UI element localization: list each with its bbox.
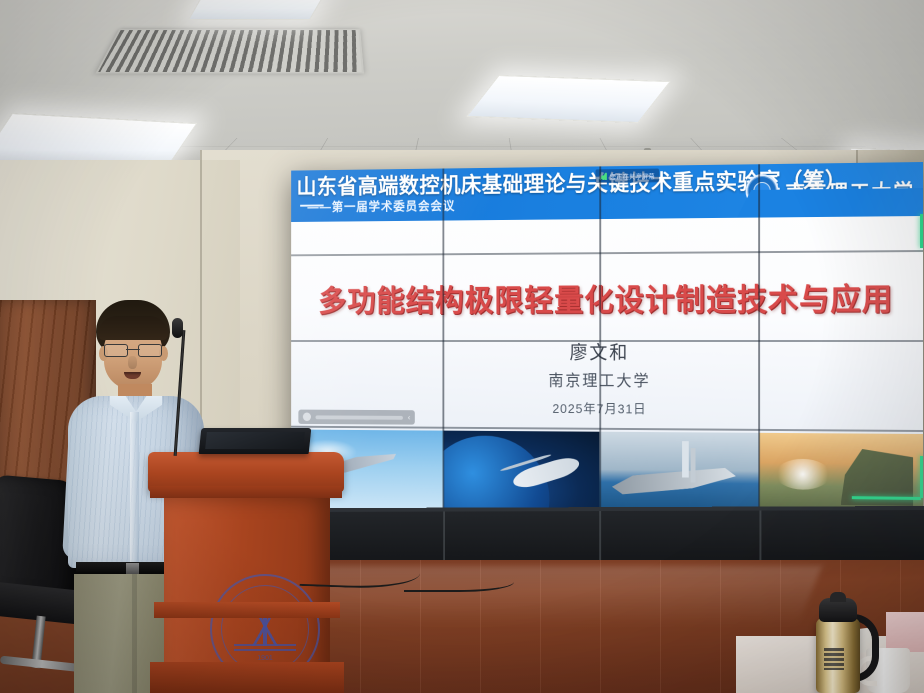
naval-ship-photo [599,432,759,518]
presenter-toolbar[interactable]: ‹ [298,410,414,425]
bezel-led-indicator [920,456,923,498]
slide-indicator [316,415,404,419]
slide-banner: 山东省高端数控机床基础理论与关键技术重点实验室（筹） ——第一届学术委员会会议 … [291,162,923,222]
microphone-icon [172,318,183,338]
signal-bars-icon [599,172,607,180]
bezel-led-indicator [920,214,923,248]
video-wall-display[interactable]: 山东省高端数控机床基础理论与关键技术重点实验室（筹） ——第一届学术委员会会议 … [291,162,923,520]
pen-tool-icon[interactable] [303,412,311,421]
njust-seal-icon [746,174,779,208]
presenter-laptop[interactable] [199,428,312,454]
presentation-slide: 山东省高端数控机床基础理论与关键技术重点实验室（筹） ——第一届学术委员会会议 … [291,162,923,520]
ceiling-light-panel [466,75,671,123]
glasses-icon [104,344,162,356]
slide-organization: 南京理工大学 [291,367,923,392]
slide-author: 廖文和 [291,338,923,365]
table-cloth [886,612,924,652]
banner-subtitle: ——第一届学术委员会会议 [307,195,455,215]
university-name: 南京理工大学 [785,175,915,205]
spacecraft-photo [443,431,599,516]
ceiling-light-panel [188,0,326,20]
university-mark: 南京理工大学 [746,164,915,216]
screen-share-text: 您正在共享屏幕 [610,171,655,181]
gold-thermos-flask[interactable] [812,592,868,693]
floor-cable [404,572,514,592]
air-vent-icon [95,29,364,74]
chevron-left-icon[interactable]: ‹ [408,414,410,422]
conference-room-photo: 山东省高端数控机床基础理论与关键技术重点实验室（筹） ——第一届学术委员会会议 … [0,0,924,693]
slide-title: 多功能结构极限轻量化设计制造技术与应用 [291,274,923,320]
emblem-year: 1901 [212,655,318,662]
screen-share-badge: 您正在共享屏幕 [596,169,659,183]
